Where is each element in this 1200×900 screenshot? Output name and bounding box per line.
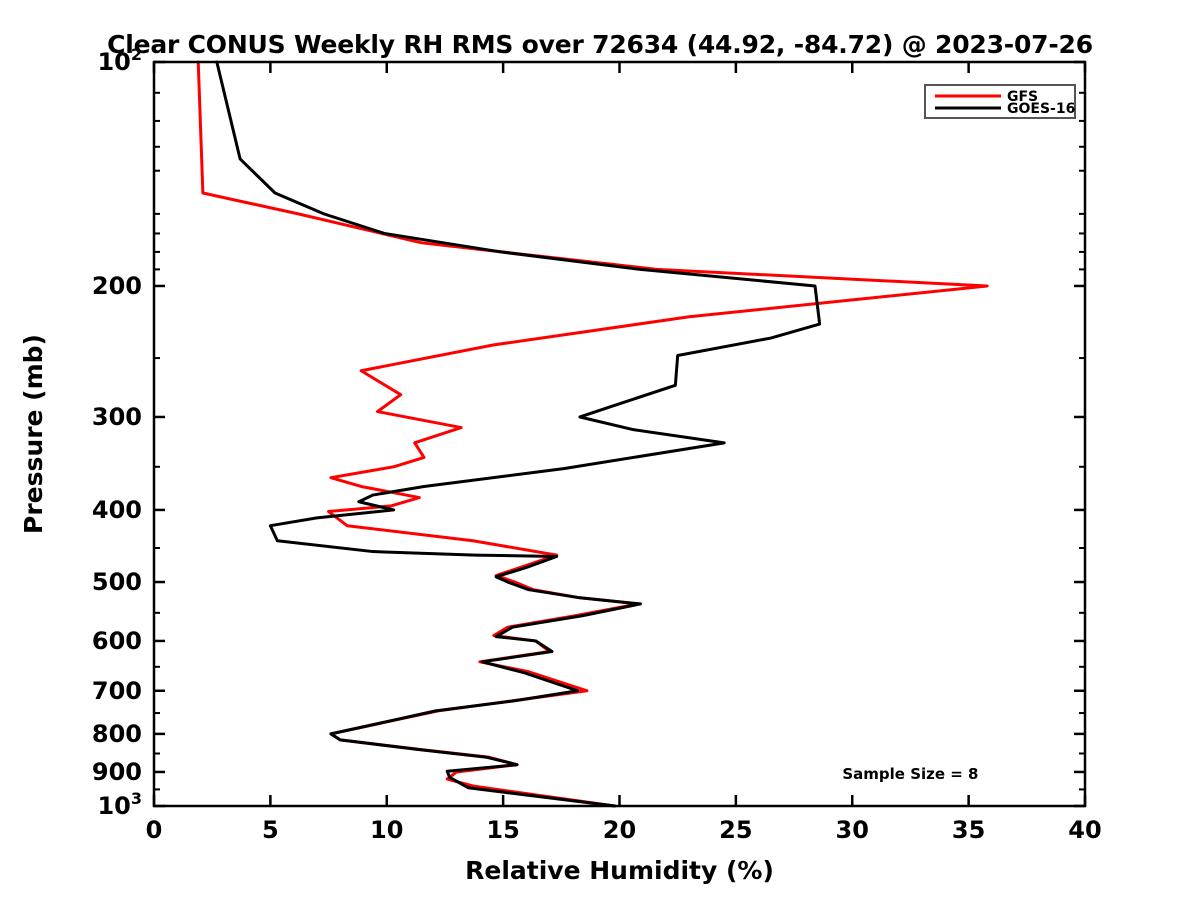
y-tick-label: 900 <box>92 758 142 786</box>
x-tick-label: 35 <box>952 816 985 844</box>
x-tick-label: 10 <box>370 816 403 844</box>
x-tick-label: 30 <box>836 816 869 844</box>
y-tick-label: 600 <box>92 627 142 655</box>
y-axis-title: Pressure (mb) <box>19 334 48 534</box>
x-tick-label: 40 <box>1068 816 1101 844</box>
axes-layer <box>154 62 1085 806</box>
x-tick-label: 15 <box>486 816 519 844</box>
annotation-layer: Sample Size = 8 <box>842 765 978 783</box>
y-tick-label: 200 <box>92 272 142 300</box>
legend-label-goes-16: GOES-16 <box>1007 101 1075 117</box>
series-layer <box>198 62 987 806</box>
y-tick-label: 300 <box>92 403 142 431</box>
legend[interactable]: GFSGOES-16 <box>925 85 1075 118</box>
x-tick-label: 25 <box>719 816 752 844</box>
y-tick-label: 400 <box>92 496 142 524</box>
y-tick-label: 800 <box>92 720 142 748</box>
plot-frame <box>154 62 1085 806</box>
y-tick-label: 103 <box>97 789 142 820</box>
y-tick-label: 700 <box>92 677 142 705</box>
sample-size-annotation: Sample Size = 8 <box>842 765 978 783</box>
x-tick-label: 20 <box>603 816 636 844</box>
x-tick-label: 0 <box>146 816 163 844</box>
x-tick-label: 5 <box>262 816 279 844</box>
series-line-gfs <box>198 62 987 806</box>
y-tick-label: 102 <box>97 45 142 76</box>
chart-figure: Clear CONUS Weekly RH RMS over 72634 (44… <box>0 0 1200 900</box>
plot-canvas: 0510152025303540102200300400500600700800… <box>0 0 1200 900</box>
series-line-goes-16 <box>217 62 820 806</box>
y-tick-label: 500 <box>92 568 142 596</box>
axis-labels-layer: 0510152025303540102200300400500600700800… <box>19 45 1102 885</box>
x-axis-title: Relative Humidity (%) <box>465 856 774 885</box>
